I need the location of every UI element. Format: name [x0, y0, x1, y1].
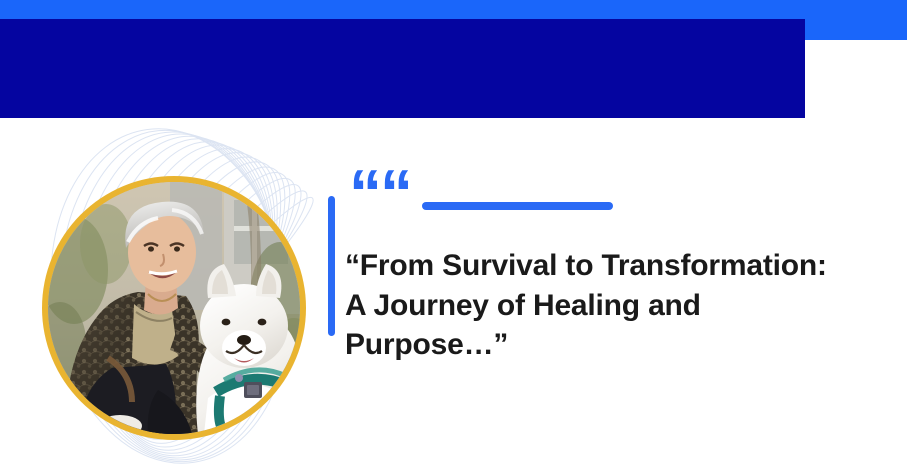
quote-mark-icon: ““	[349, 160, 411, 226]
quote-divider-rule	[422, 202, 613, 210]
avatar-clip	[48, 182, 300, 434]
quote-accent-bar	[328, 196, 335, 336]
portrait-photo	[48, 182, 300, 434]
avatar	[42, 176, 306, 440]
header-accent-bar-navy	[0, 19, 805, 118]
quote-text: “From Survival to Transformation: A Jour…	[345, 246, 845, 365]
